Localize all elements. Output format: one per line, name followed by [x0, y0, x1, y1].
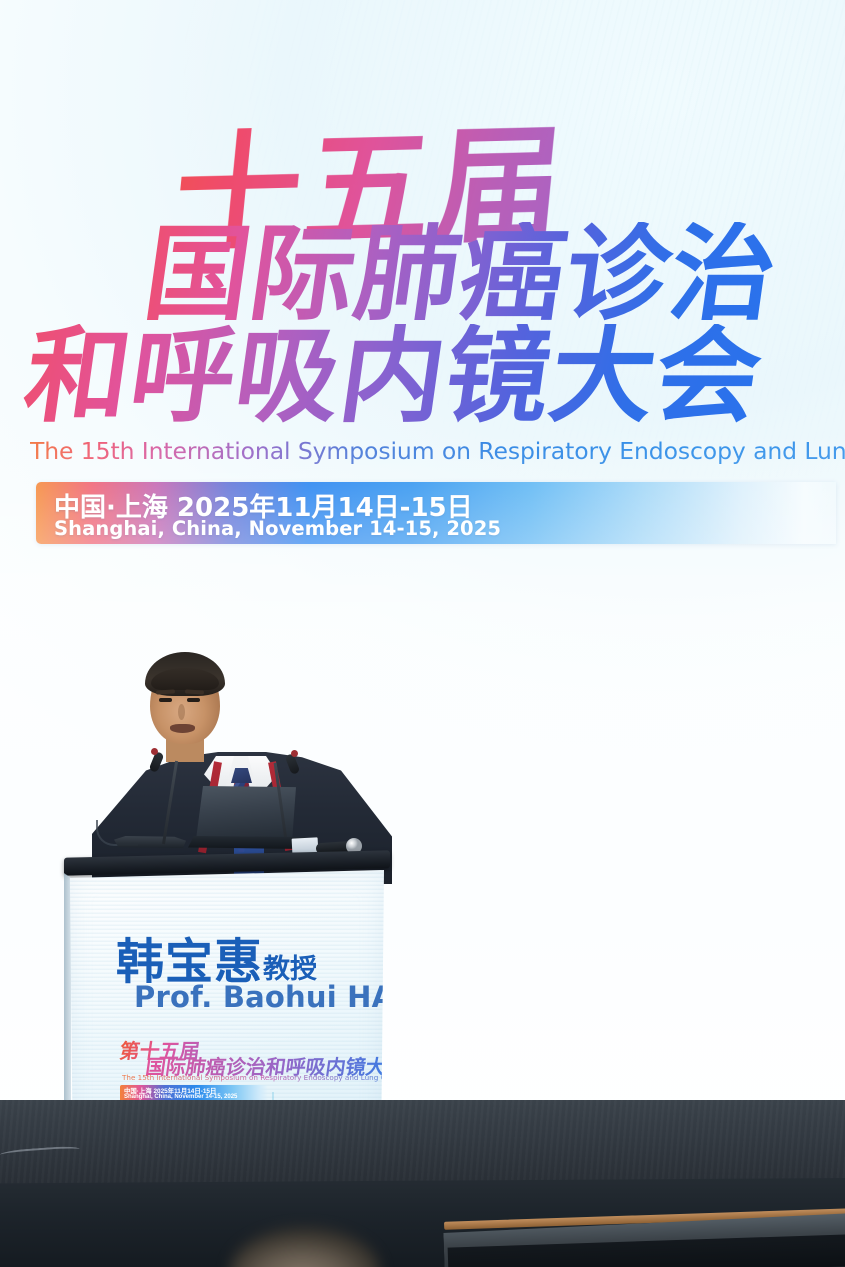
microphone-left-tip — [151, 748, 158, 755]
speaker-eye-right — [187, 698, 200, 702]
laptop-base — [188, 836, 306, 849]
speaker-mouth — [170, 724, 195, 733]
speaker-nameplate-english: Prof. Baohui HAN — [134, 980, 419, 1014]
banner-title-line-3: 和呼吸内镜大会 — [19, 324, 769, 428]
speaker-eye-left — [159, 698, 172, 702]
banner-title-line-2: 国际肺癌诊治 — [139, 222, 784, 326]
microphone-right-tip — [291, 750, 298, 757]
conference-stage-photo: 第十五届 国际肺癌诊治 和呼吸内镜大会 The 15th Internation… — [0, 0, 845, 1267]
speaker-nose — [178, 704, 185, 720]
desk-equipment — [114, 836, 186, 848]
